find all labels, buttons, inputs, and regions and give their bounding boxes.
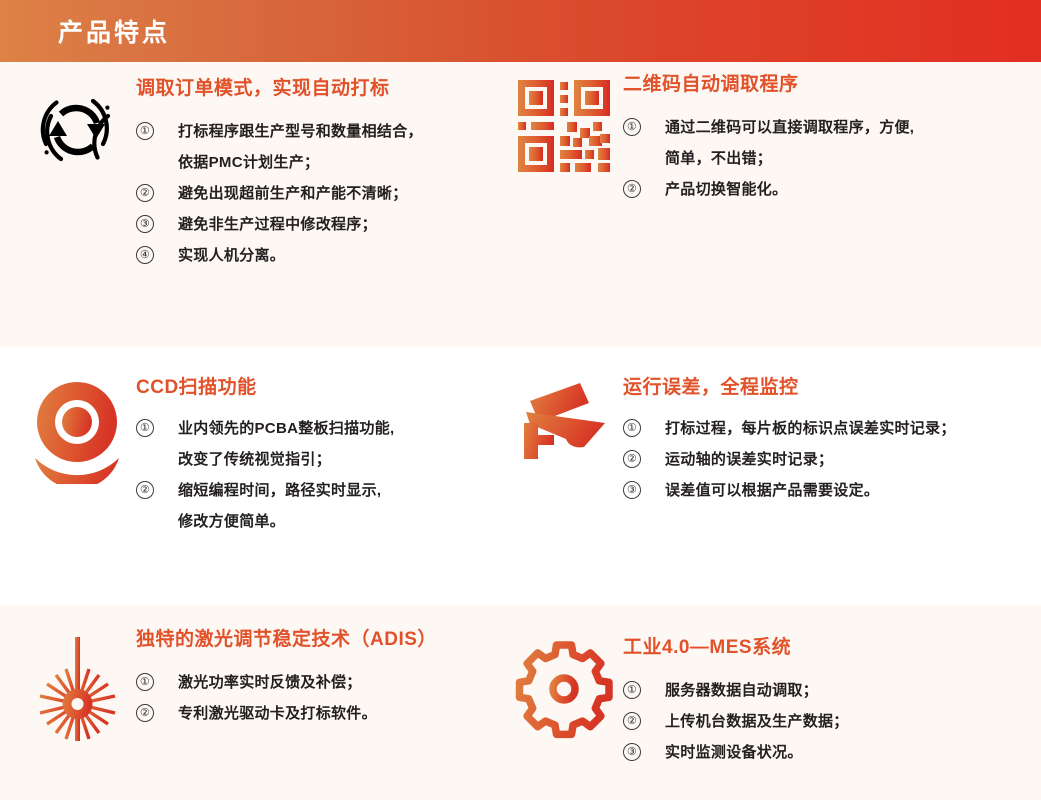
bullet-text-line1: 缩短编程时间，路径实时显示,: [178, 475, 488, 506]
bullet-number: ①: [136, 419, 154, 437]
bullet-number: ①: [136, 122, 154, 140]
bullet-text-line1: 产品切换智能化。: [665, 174, 1025, 205]
bullet-text-line1: 上传机台数据及生产数据；: [665, 706, 1025, 737]
bullet-text-line1: 专利激光驱动卡及打标软件。: [178, 698, 488, 729]
bullet-text-line1: 避免出现超前生产和产能不清晰；: [178, 178, 488, 209]
feature-text: 二维码自动调取程序 ① 通过二维码可以直接调取程序，方便, 简单，不出错； ② …: [623, 72, 1025, 205]
bullet-number: ③: [623, 743, 641, 761]
bullet-text-line1: 实现人机分离。: [178, 240, 488, 271]
feature-card-mes: 工业4.0—MES系统 ① 服务器数据自动调取； ② 上传机台数据及生产数据； …: [505, 635, 1025, 768]
bullet-text-line1: 通过二维码可以直接调取程序，方便,: [665, 112, 1025, 143]
feature-bullet-list: ① 服务器数据自动调取； ② 上传机台数据及生产数据； ③ 实时监测设备状况。: [623, 675, 1025, 768]
feature-title: 调取订单模式，实现自动打标: [136, 76, 488, 102]
gear-icon: [505, 635, 623, 739]
bullet-number: ②: [623, 450, 641, 468]
feature-text: 工业4.0—MES系统 ① 服务器数据自动调取； ② 上传机台数据及生产数据； …: [623, 635, 1025, 768]
list-item: ② 避免出现超前生产和产能不清晰；: [136, 178, 488, 209]
bullet-text-line1: 运动轴的误差实时记录；: [665, 444, 1025, 475]
feature-title: 工业4.0—MES系统: [623, 635, 1025, 661]
feature-title: 二维码自动调取程序: [623, 72, 1025, 98]
feature-section-1: 调取订单模式，实现自动打标 ① 打标程序跟生产型号和数量相结合， 依据PMC计划…: [0, 62, 1041, 347]
feature-title: CCD扫描功能: [136, 375, 488, 401]
bullet-text-line1: 业内领先的PCBA整板扫描功能,: [178, 413, 488, 444]
list-item: ④ 实现人机分离。: [136, 240, 488, 271]
bullet-text-line1: 打标过程，每片板的标识点误差实时记录；: [665, 413, 1025, 444]
feature-row: 调取订单模式，实现自动打标 ① 打标程序跟生产型号和数量相结合， 依据PMC计划…: [0, 62, 1041, 347]
list-item: ① 服务器数据自动调取；: [623, 675, 1025, 706]
bullet-number: ①: [623, 118, 641, 136]
list-item: ① 打标程序跟生产型号和数量相结合， 依据PMC计划生产；: [136, 116, 488, 178]
bullet-number: ③: [623, 481, 641, 499]
feature-card-ccd-scan: CCD扫描功能 ① 业内领先的PCBA整板扫描功能, 改变了传统视觉指引； ② …: [18, 375, 488, 537]
bullet-number: ③: [136, 215, 154, 233]
laser-burst-icon: [18, 627, 136, 749]
list-item: ② 上传机台数据及生产数据；: [623, 706, 1025, 737]
bullet-number: ②: [623, 180, 641, 198]
bullet-text-line1: 打标程序跟生产型号和数量相结合，: [178, 116, 488, 147]
feature-bullet-list: ① 打标过程，每片板的标识点误差实时记录； ② 运动轴的误差实时记录； ③ 误差…: [623, 413, 1025, 506]
list-item: ① 打标过程，每片板的标识点误差实时记录；: [623, 413, 1025, 444]
bullet-text-line1: 实时监测设备状况。: [665, 737, 1025, 768]
bullet-text-line1: 服务器数据自动调取；: [665, 675, 1025, 706]
feature-text: 独特的激光调节稳定技术（ADIS） ① 激光功率实时反馈及补偿； ② 专利激光驱…: [136, 627, 488, 729]
list-item: ② 缩短编程时间，路径实时显示, 修改方便简单。: [136, 475, 488, 537]
feature-text: 运行误差，全程监控 ① 打标过程，每片板的标识点误差实时记录； ② 运动轴的误差…: [623, 375, 1025, 506]
list-item: ② 专利激光驱动卡及打标软件。: [136, 698, 488, 729]
feature-card-order-mode: 调取订单模式，实现自动打标 ① 打标程序跟生产型号和数量相结合， 依据PMC计划…: [18, 76, 488, 271]
feature-text: 调取订单模式，实现自动打标 ① 打标程序跟生产型号和数量相结合， 依据PMC计划…: [136, 76, 488, 271]
feature-bullet-list: ① 通过二维码可以直接调取程序，方便, 简单，不出错； ② 产品切换智能化。: [623, 112, 1025, 205]
bullet-text-line2: 改变了传统视觉指引；: [178, 444, 488, 475]
feature-bullet-list: ① 激光功率实时反馈及补偿； ② 专利激光驱动卡及打标软件。: [136, 667, 488, 729]
recycle-arrows-icon: [18, 76, 136, 180]
bullet-text-line1: 激光功率实时反馈及补偿；: [178, 667, 488, 698]
bullet-number: ①: [623, 681, 641, 699]
feature-card-qr-code: 二维码自动调取程序 ① 通过二维码可以直接调取程序，方便, 简单，不出错； ② …: [505, 72, 1025, 205]
bullet-number: ②: [623, 712, 641, 730]
page-header-banner: 产品特点: [0, 0, 1041, 62]
bullet-text-line1: 避免非生产过程中修改程序；: [178, 209, 488, 240]
feature-text: CCD扫描功能 ① 业内领先的PCBA整板扫描功能, 改变了传统视觉指引； ② …: [136, 375, 488, 537]
list-item: ② 运动轴的误差实时记录；: [623, 444, 1025, 475]
list-item: ③ 避免非生产过程中修改程序；: [136, 209, 488, 240]
bullet-text-line2: 简单，不出错；: [665, 143, 1025, 174]
feature-row: 独特的激光调节稳定技术（ADIS） ① 激光功率实时反馈及补偿； ② 专利激光驱…: [0, 605, 1041, 800]
bullet-number: ①: [136, 673, 154, 691]
list-item: ③ 误差值可以根据产品需要设定。: [623, 475, 1025, 506]
list-item: ① 业内领先的PCBA整板扫描功能, 改变了传统视觉指引；: [136, 413, 488, 475]
bullet-text-line2: 修改方便简单。: [178, 506, 488, 537]
feature-bullet-list: ① 业内领先的PCBA整板扫描功能, 改变了传统视觉指引； ② 缩短编程时间，路…: [136, 413, 488, 537]
feature-title: 运行误差，全程监控: [623, 375, 1025, 401]
qr-code-icon: [505, 72, 623, 176]
security-camera-icon: [505, 375, 623, 479]
bullet-text-line1: 误差值可以根据产品需要设定。: [665, 475, 1025, 506]
feature-card-error-monitoring: 运行误差，全程监控 ① 打标过程，每片板的标识点误差实时记录； ② 运动轴的误差…: [505, 375, 1025, 506]
feature-section-2: CCD扫描功能 ① 业内领先的PCBA整板扫描功能, 改变了传统视觉指引； ② …: [0, 347, 1041, 605]
bullet-number: ②: [136, 184, 154, 202]
feature-title: 独特的激光调节稳定技术（ADIS）: [136, 627, 488, 653]
bullet-number: ②: [136, 704, 154, 722]
list-item: ③ 实时监测设备状况。: [623, 737, 1025, 768]
page-title: 产品特点: [58, 13, 170, 49]
list-item: ② 产品切换智能化。: [623, 174, 1025, 205]
bullet-number: ①: [623, 419, 641, 437]
feature-card-adis: 独特的激光调节稳定技术（ADIS） ① 激光功率实时反馈及补偿； ② 专利激光驱…: [18, 627, 488, 749]
bullet-number: ④: [136, 246, 154, 264]
bullet-text-line2: 依据PMC计划生产；: [178, 147, 488, 178]
bullet-number: ②: [136, 481, 154, 499]
feature-row: CCD扫描功能 ① 业内领先的PCBA整板扫描功能, 改变了传统视觉指引； ② …: [0, 347, 1041, 605]
feature-section-3: 独特的激光调节稳定技术（ADIS） ① 激光功率实时反馈及补偿； ② 专利激光驱…: [0, 605, 1041, 800]
list-item: ① 通过二维码可以直接调取程序，方便, 简单，不出错；: [623, 112, 1025, 174]
list-item: ① 激光功率实时反馈及补偿；: [136, 667, 488, 698]
webcam-icon: [18, 375, 136, 484]
product-features-page: 产品特点: [0, 0, 1041, 800]
feature-bullet-list: ① 打标程序跟生产型号和数量相结合， 依据PMC计划生产； ② 避免出现超前生产…: [136, 116, 488, 271]
